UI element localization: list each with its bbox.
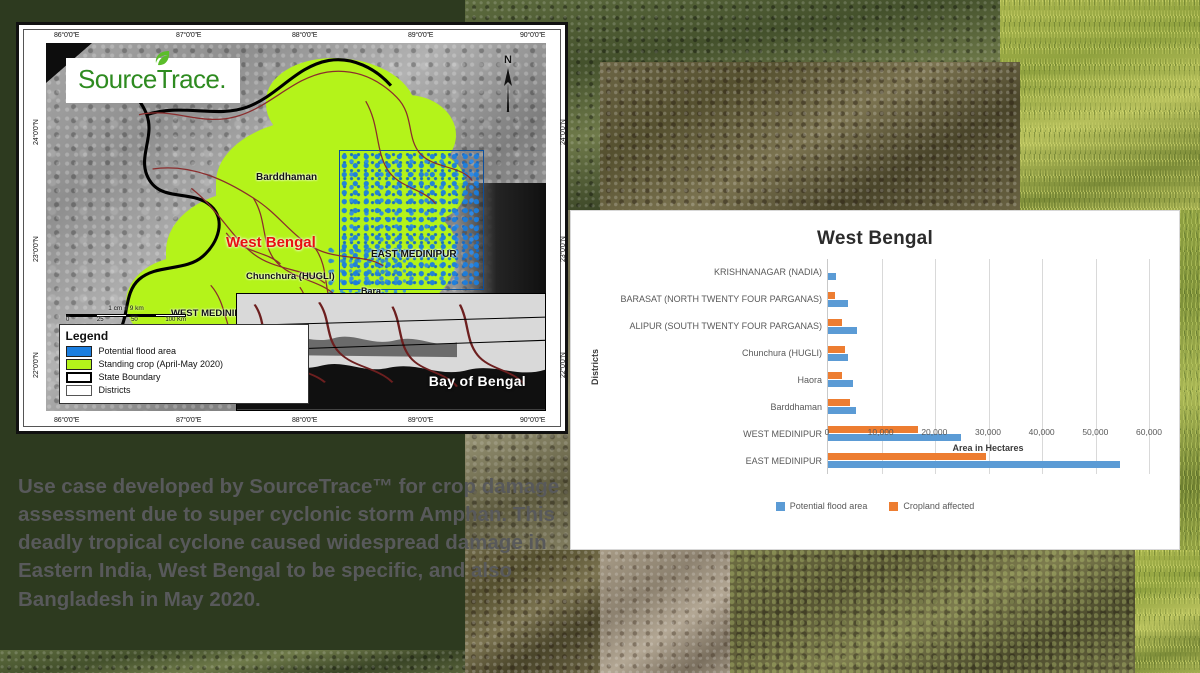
legend-item-flood: Potential flood area — [66, 346, 302, 357]
x-tick-label: 20,000 — [921, 427, 947, 437]
legend-swatch-state — [66, 372, 92, 383]
bar-potential-flood-area[interactable] — [828, 273, 836, 280]
legend-item-state: State Boundary — [66, 372, 302, 383]
lon-label-87-bottom: 87°0'0"E — [176, 417, 201, 424]
category-label: BARASAT (NORTH TWENTY FOUR PARGANAS) — [593, 286, 827, 313]
compass-needle-icon — [500, 66, 516, 114]
legend-swatch-crop — [66, 359, 92, 370]
lon-label-87: 87°0'0"E — [176, 32, 201, 39]
gridline — [1149, 259, 1150, 474]
leaf-icon — [154, 50, 170, 68]
x-axis-tick-labels: 010,00020,00030,00040,00050,00060,000 — [827, 426, 1149, 440]
x-tick-label: 10,000 — [868, 427, 894, 437]
legend-item-crop: Standing crop (April-May 2020) — [66, 359, 302, 370]
bar-group — [828, 259, 1149, 286]
lon-label-90-bottom: 90°0'0"E — [520, 417, 545, 424]
chart-legend: Potential flood area Cropland affected — [571, 501, 1179, 511]
bar-cropland-affected[interactable] — [828, 399, 850, 406]
lat-label-24: 24°0'0"N — [33, 119, 40, 145]
scale-equivalence-label: 1 cm = 9 km — [66, 305, 186, 312]
damaged-crop-photo — [730, 550, 1135, 673]
bar-potential-flood-area[interactable] — [828, 407, 856, 414]
bar-group — [828, 286, 1149, 313]
bar-group — [828, 313, 1149, 340]
x-tick-label: 50,000 — [1082, 427, 1108, 437]
map-canvas[interactable]: West Bengal Barddhaman Chunchura (HUGLI)… — [46, 43, 546, 411]
mud-ground-photo — [600, 550, 730, 673]
scale-tick-50: 50 — [131, 317, 138, 323]
map-legend: Legend Potential flood area Standing cro… — [59, 324, 309, 404]
lat-label-24-right: 24°0'0"N — [560, 119, 567, 145]
label-chunchura: Chunchura (HUGLI) — [246, 271, 335, 282]
chart-legend-item-flood[interactable]: Potential flood area — [776, 501, 868, 511]
scale-tick-25: 25 — [97, 317, 104, 323]
logo-text: SourceTrace. — [78, 64, 226, 95]
lon-label-90: 90°0'0"E — [520, 32, 545, 39]
north-arrow-label: N — [495, 54, 521, 66]
chart-plot-wrapper: Districts KRISHNANAGAR (NADIA)BARASAT (N… — [571, 259, 1179, 474]
scale-tick-0: 0 — [66, 317, 69, 323]
lon-label-89: 89°0'0"E — [408, 32, 433, 39]
bar-potential-flood-area[interactable] — [828, 327, 857, 334]
bar-cropland-affected[interactable] — [828, 372, 842, 379]
x-tick-label: 40,000 — [1029, 427, 1055, 437]
category-label: WEST MEDINIPUR — [593, 420, 827, 447]
bar-series-container — [828, 259, 1149, 474]
map-card: 86°0'0"E 87°0'0"E 88°0'0"E 89°0'0"E 90°0… — [16, 22, 568, 434]
bar-cropland-affected[interactable] — [828, 453, 986, 460]
bar-potential-flood-area[interactable] — [828, 300, 848, 307]
scale-tick-100: 100 Km — [165, 317, 186, 323]
lat-label-23-right: 23°0'0"N — [560, 236, 567, 262]
x-tick-label: 0 — [825, 427, 830, 437]
category-label: ALIPUR (SOUTH TWENTY FOUR PARGANAS) — [593, 313, 827, 340]
label-barddhaman: Barddhaman — [256, 172, 317, 183]
chart-legend-swatch-cropland — [889, 502, 898, 511]
legend-label-flood: Potential flood area — [99, 346, 177, 356]
scale-tick-labels: 0 25 50 100 Km — [66, 317, 186, 323]
lon-label-86: 86°0'0"E — [54, 32, 79, 39]
chart-legend-item-cropland[interactable]: Cropland affected — [889, 501, 974, 511]
bar-potential-flood-area[interactable] — [828, 461, 1120, 468]
map-frame: 86°0'0"E 87°0'0"E 88°0'0"E 89°0'0"E 90°0… — [23, 29, 561, 427]
north-arrow: N — [495, 54, 521, 119]
chart-legend-label-cropland: Cropland affected — [903, 501, 974, 511]
map-scale-bar: 1 cm = 9 km 0 25 50 100 Km — [66, 305, 186, 323]
lon-label-89-bottom: 89°0'0"E — [408, 417, 433, 424]
bar-cropland-affected[interactable] — [828, 346, 845, 353]
category-axis-labels: KRISHNANAGAR (NADIA)BARASAT (NORTH TWENT… — [593, 259, 827, 474]
legend-label-districts: Districts — [99, 385, 131, 395]
plot-area — [827, 259, 1149, 474]
x-axis-title: Area in Hectares — [827, 443, 1149, 453]
category-label: EAST MEDINIPUR — [593, 447, 827, 474]
chart-legend-swatch-flood — [776, 502, 785, 511]
category-label: KRISHNANAGAR (NADIA) — [593, 259, 827, 286]
lat-label-23: 23°0'0"N — [33, 236, 40, 262]
chart-card: West Bengal Districts KRISHNANAGAR (NADI… — [570, 210, 1180, 550]
label-east-medinipur: EAST MEDINIPUR — [371, 249, 457, 260]
label-west-bengal: West Bengal — [226, 234, 316, 251]
chart-legend-label-flood: Potential flood area — [790, 501, 868, 511]
legend-swatch-districts — [66, 385, 92, 396]
lat-label-22: 22°0'0"N — [33, 352, 40, 378]
bar-group — [828, 393, 1149, 420]
bar-group — [828, 367, 1149, 394]
crop-debris-photo — [600, 62, 1020, 212]
paddy-field-photo — [1135, 550, 1200, 673]
bar-potential-flood-area[interactable] — [828, 354, 848, 361]
lon-label-86-bottom: 86°0'0"E — [54, 417, 79, 424]
legend-item-districts: Districts — [66, 385, 302, 396]
bar-cropland-affected[interactable] — [828, 292, 835, 299]
bar-potential-flood-area[interactable] — [828, 380, 853, 387]
legend-title: Legend — [66, 329, 302, 343]
sourcetrace-logo: SourceTrace. — [66, 58, 240, 103]
lon-label-88-bottom: 88°0'0"E — [292, 417, 317, 424]
paddy-field-photo — [1000, 0, 1200, 210]
legend-swatch-flood — [66, 346, 92, 357]
x-tick-label: 30,000 — [975, 427, 1001, 437]
label-bay-of-bengal: Bay of Bengal — [429, 373, 526, 389]
bar-group — [828, 340, 1149, 367]
x-tick-label: 60,000 — [1136, 427, 1162, 437]
fallen-trees-photo — [0, 650, 465, 673]
use-case-caption: Use case developed by SourceTrace™ for c… — [18, 473, 568, 614]
bar-cropland-affected[interactable] — [828, 319, 842, 326]
category-label: Barddhaman — [593, 393, 827, 420]
lon-label-88: 88°0'0"E — [292, 32, 317, 39]
chart-title: West Bengal — [571, 228, 1179, 250]
legend-label-crop: Standing crop (April-May 2020) — [99, 359, 224, 369]
legend-label-state: State Boundary — [99, 372, 161, 382]
lat-label-22-right: 22°0'0"N — [560, 352, 567, 378]
category-label: Haora — [593, 367, 827, 394]
category-label: Chunchura (HUGLI) — [593, 340, 827, 367]
